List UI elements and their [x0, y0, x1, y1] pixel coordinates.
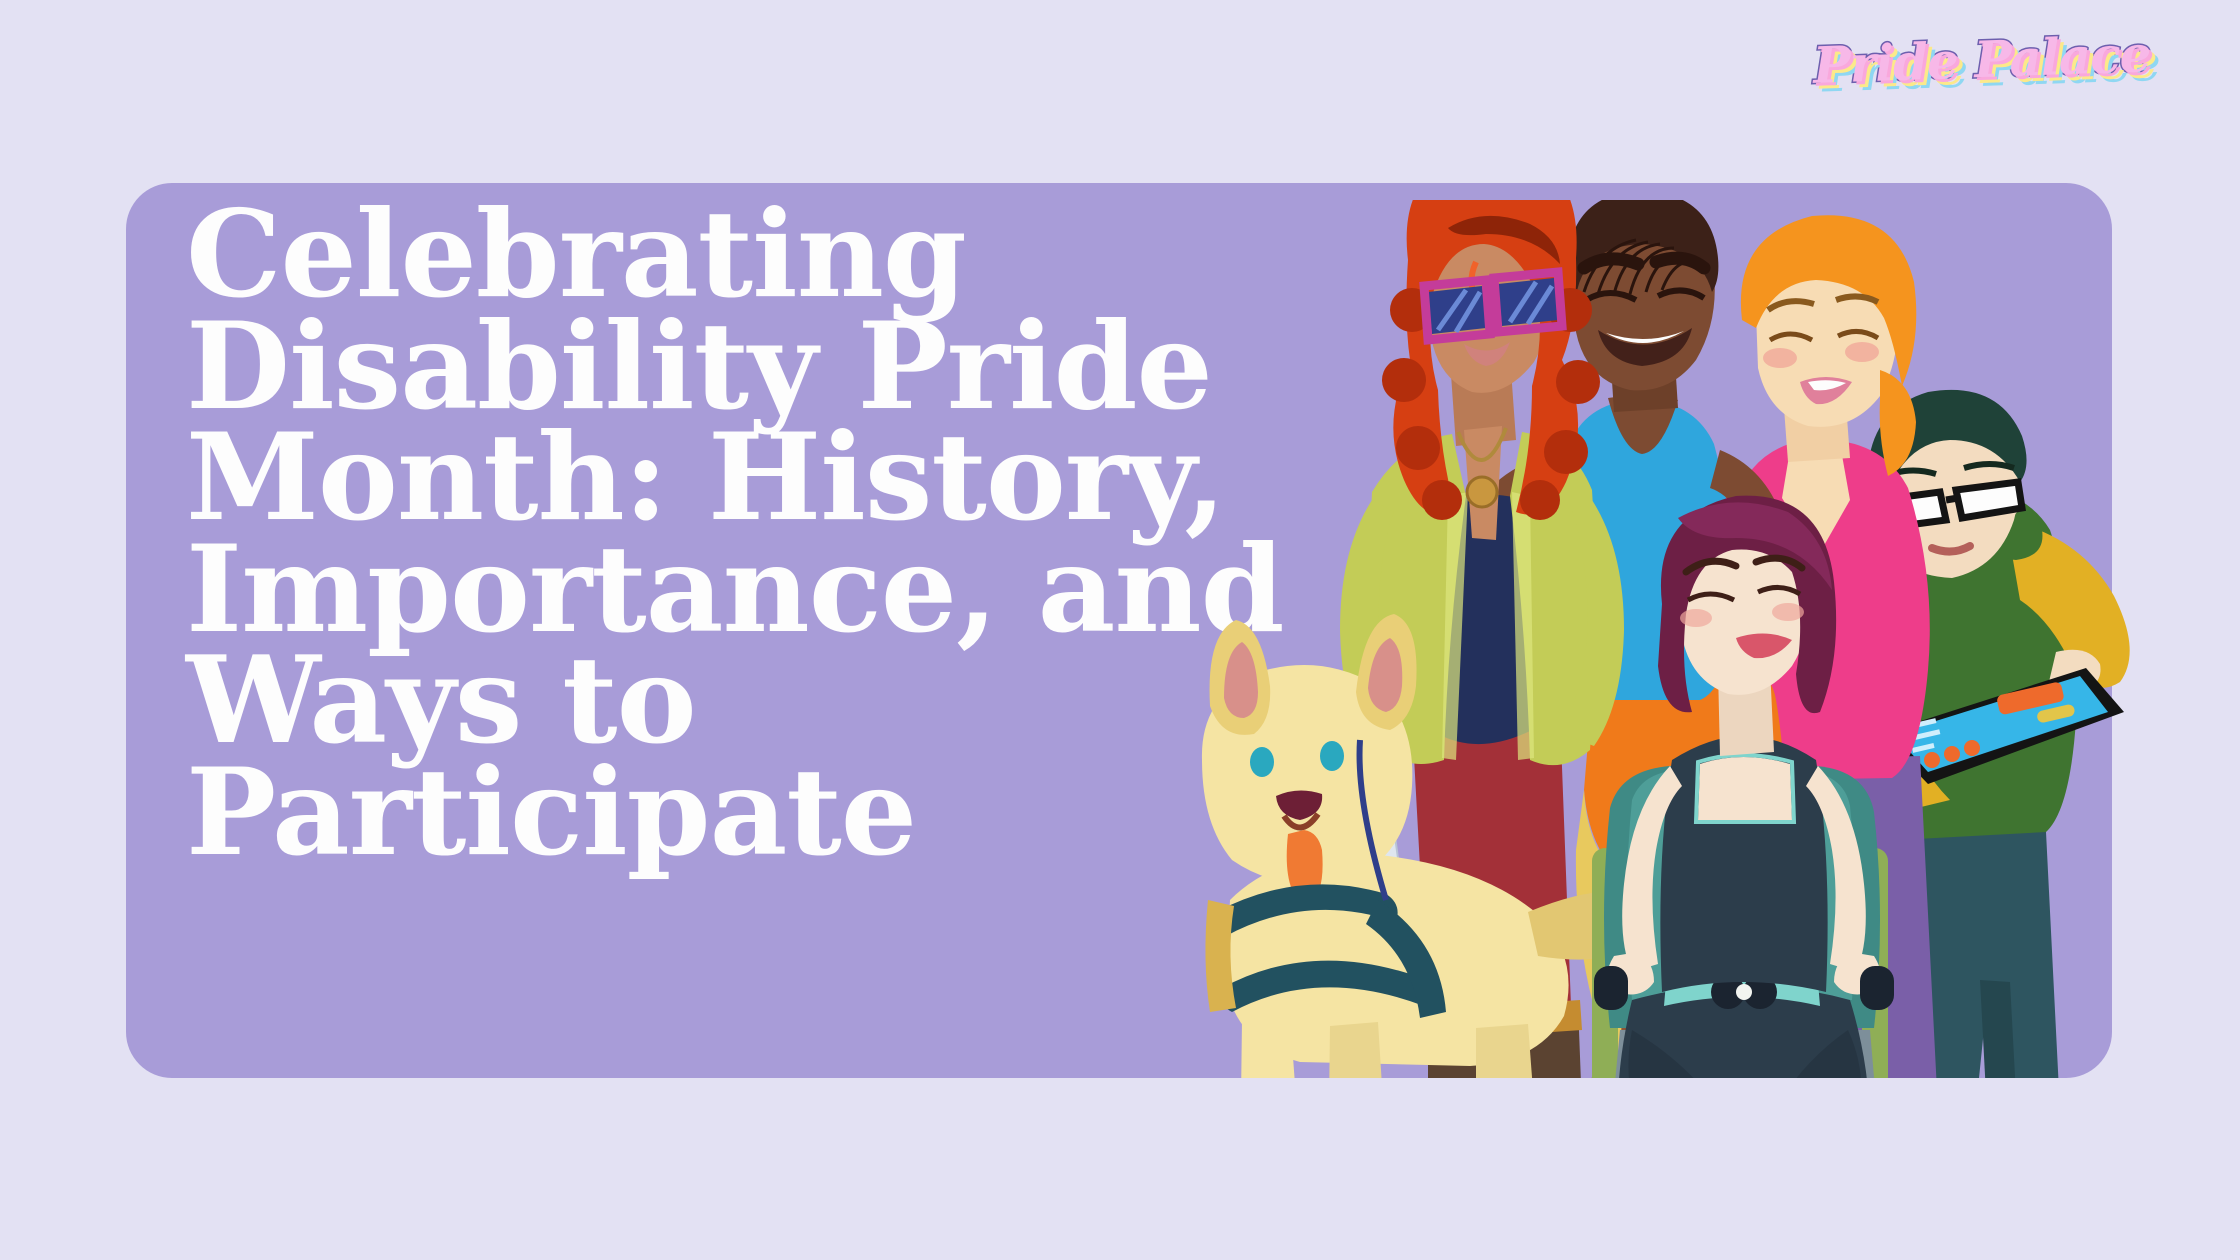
title-line-4: Importance, and — [186, 534, 1246, 646]
poster-canvas: Pride Palace Celebrating Disability Prid… — [0, 0, 2240, 1260]
dog-eye-left — [1250, 747, 1274, 777]
brand-logo[interactable]: Pride Palace — [1832, 14, 2132, 104]
wheelchair-grip-left[interactable] — [1594, 966, 1628, 1010]
tablet-person-glasses-right-lens — [1956, 482, 2022, 518]
tablet-person-glasses-bridge — [1946, 498, 1958, 500]
pink-sunglasses — [1424, 272, 1562, 340]
red-hair-necklace-pendant — [1467, 477, 1497, 507]
title-line-3: Month: History, — [186, 422, 1246, 534]
page-title: Celebrating Disability Pride Month: Hist… — [186, 199, 1246, 869]
wheelchair-grip-right[interactable] — [1860, 966, 1894, 1010]
title-line-6: Participate — [186, 757, 1246, 869]
tablet-ui-dot-3 — [1924, 752, 1940, 768]
title-line-1: Celebrating — [186, 199, 1246, 311]
tablet-ui-dot-1 — [1964, 740, 1980, 756]
title-line-5: Ways to — [186, 645, 1246, 757]
wheelchair-user-blush-left — [1680, 609, 1712, 627]
wheelchair-user-blush-right — [1772, 603, 1804, 621]
brand-logo-text: Pride Palace — [1812, 24, 2151, 95]
wheelchair-user-belt-center — [1736, 984, 1752, 1000]
tablet-ui-dot-2 — [1944, 746, 1960, 762]
orange-hair-blush-left — [1763, 348, 1797, 368]
wheelchair-user-neckline-skin — [1698, 757, 1792, 820]
dog-eye-right — [1320, 741, 1344, 771]
orange-hair-blush-right — [1845, 342, 1879, 362]
floor-strip — [1180, 1078, 2240, 1260]
title-line-2: Disability Pride — [186, 311, 1246, 423]
